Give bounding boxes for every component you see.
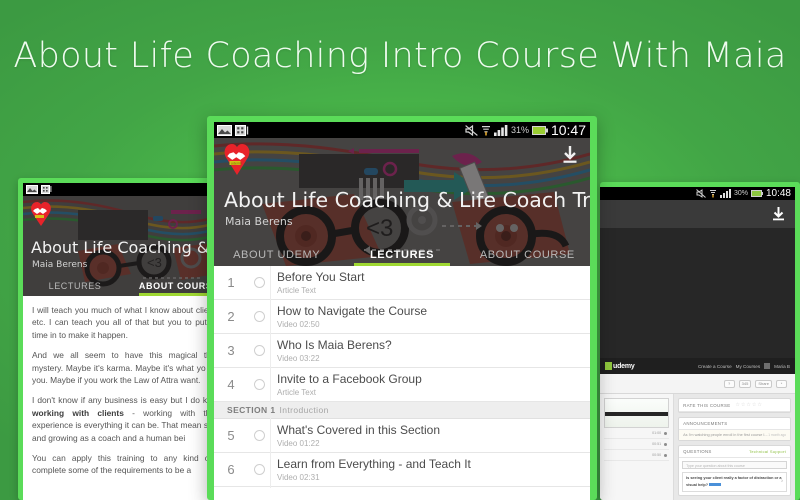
video-player[interactable] [604,398,669,428]
course-title-left: About Life Coaching & Life [31,238,231,257]
wifi-icon [481,125,491,136]
lecture-number: 1 [214,275,248,290]
course-author-center: Maia Berens [225,215,293,228]
tab-lectures-left[interactable]: LECTURES [23,281,127,296]
section-label: SECTION 1 [227,405,275,415]
questions-panel: QUESTIONS Technical Support Type your qu… [678,445,791,496]
star-rating-icon[interactable]: ☆☆☆☆☆ [735,402,762,408]
announcement-text: As I'm watching people enroll in the fir… [683,433,768,437]
share-button[interactable]: Share [755,380,772,388]
lecture-checkbox[interactable] [248,379,270,390]
article-paragraph: I don't know if any business is easy but… [32,394,222,444]
questions-header: QUESTIONS Technical Support [679,446,790,458]
udemy-webview: udemy Create a Course My Courses Maria B… [600,358,795,500]
signal-bars-icon [720,189,731,198]
apps-icon [235,125,249,136]
announcements-header: ANNOUNCEMENTS [679,418,790,430]
page-title: About Life Coaching Intro Course With Ma… [0,36,800,76]
lecture-checkbox[interactable] [248,464,270,475]
tab-bar-left: LECTURES ABOUT COURSE [23,276,231,296]
lecture-checkbox[interactable] [248,277,270,288]
lecture-meta: Video 02:50 [277,319,584,330]
phone-left-screen: <3 About Life Coaching & Life Maia Beren… [23,183,231,500]
lecture-checkbox[interactable] [248,311,270,322]
status-bar-left [23,183,231,196]
curriculum-sidebar: 01:00 00:51 00:50 [600,394,674,500]
lecture-title: Before You Start [277,270,584,284]
rate-course-header: RATE THIS COURSE ☆☆☆☆☆ [679,399,790,412]
heart-handshake-badge-icon [29,200,53,232]
lecture-number: 2 [214,309,248,324]
webview-dark-area [600,228,795,358]
more-button[interactable]: * [776,380,787,388]
web-content: 01:00 00:51 00:50 RATE TH [600,394,795,500]
curriculum-dot-icon [664,443,667,446]
curriculum-item-time: 01:00 [652,431,661,435]
phone-right: 30% 10:48 udemy [600,182,800,500]
phone-left: <3 About Life Coaching & Life Maia Beren… [18,178,236,500]
web-toolbar: ? 345 Share * [600,374,795,394]
lecture-number: 6 [214,462,248,477]
article-paragraph: I will teach you much of what I know abo… [32,304,222,341]
lecture-title: Learn from Everything - and Teach It [277,457,584,471]
battery-icon [532,126,548,135]
phone-center-screen: 31% 10:47 [214,122,590,500]
chevron-right-icon: › [781,480,783,485]
question-text: Is seeing your client really a factor of… [686,476,781,487]
lecture-row[interactable]: 4 Invite to a Facebook Group Article Tex… [214,368,590,402]
curriculum-item[interactable]: 00:50 [604,450,669,461]
questions-label: QUESTIONS [683,449,712,454]
phone-center: 31% 10:47 [207,116,597,500]
clock-center: 10:47 [551,122,586,138]
section-name: Introduction [279,405,328,415]
article-paragraph: And we all seem to have this magical thi… [32,349,222,386]
lecture-number: 5 [214,428,248,443]
article-paragraph: You can apply this training to any kind … [32,452,222,477]
apps-icon [41,185,52,194]
curriculum-item-time: 00:50 [652,453,661,457]
nav-user-menu[interactable]: Maria B [774,364,790,369]
wifi-icon [709,189,717,198]
lecture-row[interactable]: 2 How to Navigate the Course Video 02:50 [214,300,590,334]
question-item[interactable]: Is seeing your client really a factor of… [682,472,787,492]
lecture-number: 3 [214,343,248,358]
lecture-number: 4 [214,377,248,392]
curriculum-item[interactable]: 00:51 [604,439,669,450]
lecture-checkbox[interactable] [248,430,270,441]
lecture-row[interactable]: 6 Learn from Everything - and Teach It V… [214,453,590,487]
web-main-column: RATE THIS COURSE ☆☆☆☆☆ ANNOUNCEMENTS As … [674,394,795,500]
gallery-icon [26,185,38,194]
rate-course-panel: RATE THIS COURSE ☆☆☆☆☆ [678,398,791,413]
heart-handshake-badge-icon: udemy [222,142,252,181]
course-author-left: Maia Berens [32,260,87,270]
mute-icon [696,189,706,198]
question-tag [709,483,721,486]
lecture-meta: Article Text [277,387,584,398]
avatar [764,363,770,369]
tab-about-udemy[interactable]: ABOUT UDEMY [214,249,339,266]
svg-text:udemy: udemy [231,162,242,166]
lecture-row[interactable]: 1 Before You Start Article Text [214,266,590,300]
web-nav-bar: udemy Create a Course My Courses Maria B [600,358,795,374]
lecture-title: What's Covered in this Section [277,423,584,437]
lecture-title: Invite to a Facebook Group [277,372,584,386]
gallery-icon [217,125,232,136]
nav-create-course[interactable]: Create a Course [698,364,732,369]
likes-button[interactable]: 345 [739,380,752,388]
lecture-list[interactable]: 1 Before You Start Article Text 2 How to… [214,266,590,500]
nav-my-courses[interactable]: My Courses [736,364,761,369]
player-progress-bar[interactable] [605,412,668,416]
mute-icon [465,125,478,136]
download-icon[interactable] [772,207,785,226]
course-title-center: About Life Coaching & Life Coach Trainin… [224,188,590,212]
lecture-meta: Article Text [277,285,584,296]
battery-percent-center: 31% [511,125,529,135]
section-header: SECTION 1Introduction [214,402,590,419]
help-button[interactable]: ? [724,380,735,388]
lecture-meta: Video 03:22 [277,353,584,364]
lecture-title: How to Navigate the Course [277,304,584,318]
curriculum-item-time: 00:51 [652,442,661,446]
phone-right-screen: 30% 10:48 udemy [600,187,795,500]
status-bar-center: 31% 10:47 [214,122,590,138]
battery-icon [751,190,763,197]
udemy-logo-square [605,362,612,370]
tab-lectures[interactable]: LECTURES [339,249,464,266]
lecture-checkbox[interactable] [248,345,270,356]
battery-percent-right: 30% [734,190,748,197]
curriculum-item[interactable]: 01:00 [604,428,669,439]
lecture-row[interactable]: 3 Who Is Maia Berens? Video 03:22 [214,334,590,368]
udemy-logo-text: udemy [613,363,635,370]
lecture-title: Who Is Maia Berens? [277,338,584,352]
status-bar-right: 30% 10:48 [600,187,795,200]
lecture-meta: Video 01:22 [277,438,584,449]
rate-course-label: RATE THIS COURSE [683,403,730,408]
tab-about-course[interactable]: ABOUT COURSE [465,249,590,266]
lecture-row[interactable]: 5 What's Covered in this Section Video 0… [214,419,590,453]
clock-right: 10:48 [766,188,791,199]
curriculum-dot-icon [664,454,667,457]
app-bar-right [600,200,795,228]
signal-bars-icon [494,125,508,136]
technical-support-link[interactable]: Technical Support [749,449,786,454]
udemy-logo: udemy [605,362,635,370]
download-icon[interactable] [562,146,578,169]
lecture-meta: Video 02:31 [277,472,584,483]
announcements-panel: ANNOUNCEMENTS As I'm watching people enr… [678,417,791,441]
announcement-item[interactable]: As I'm watching people enroll in the fir… [679,430,790,440]
announcement-meta: 1 month ago [768,433,786,437]
question-input[interactable]: Type your question about this course [682,461,787,469]
article-body-left: I will teach you much of what I know abo… [23,296,231,500]
tab-bar-center: ABOUT UDEMY LECTURES ABOUT COURSE [214,240,590,266]
curriculum-dot-icon [664,432,667,435]
